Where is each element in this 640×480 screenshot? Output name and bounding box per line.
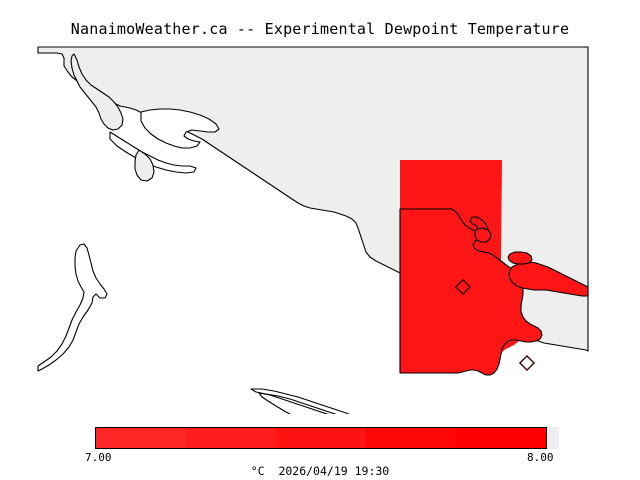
colorbar-gradient-frame[interactable] [95, 427, 547, 449]
colorbar: 7.00 8.00 °C 2026/04/19 19:30 [0, 420, 640, 480]
colorbar-overflow-swatch [547, 427, 559, 449]
weather-map-page: NanaimoWeather.ca -- Experimental Dewpoi… [0, 0, 640, 480]
colorbar-min-label: 7.00 [85, 451, 112, 464]
colorbar-max-label: 8.00 [527, 451, 554, 464]
colorbar-gradient [96, 428, 546, 448]
page-title: NanaimoWeather.ca -- Experimental Dewpoi… [0, 20, 640, 38]
map-graphic [0, 44, 640, 414]
map-canvas[interactable] [0, 44, 640, 414]
colorbar-caption: °C 2026/04/19 19:30 [0, 464, 640, 478]
data-region-inlet-islet [508, 252, 532, 264]
data-region-small-islet [475, 228, 491, 242]
